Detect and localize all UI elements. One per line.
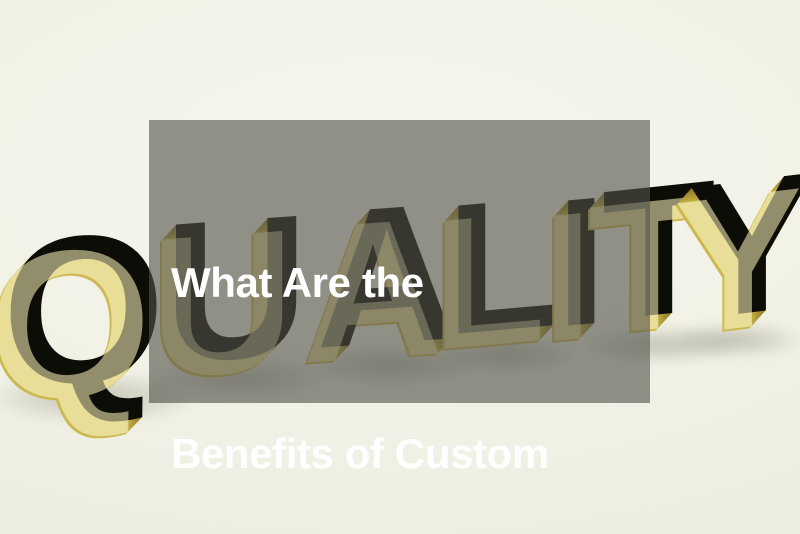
page-title-line-1: What Are the xyxy=(171,254,642,311)
page-title-line-2: Benefits of Custom xyxy=(171,425,642,482)
gold-letter-y-sheen: Y xyxy=(674,158,800,366)
gold-letter-q-sheen: Q xyxy=(0,215,151,434)
title-overlay-panel: What Are the Benefits of Custom Craftsma… xyxy=(149,120,650,403)
article-hero-image: Q Q Q U U U A A A L L L I I I T T T xyxy=(0,0,800,534)
page-title: What Are the Benefits of Custom Craftsma… xyxy=(171,140,642,534)
